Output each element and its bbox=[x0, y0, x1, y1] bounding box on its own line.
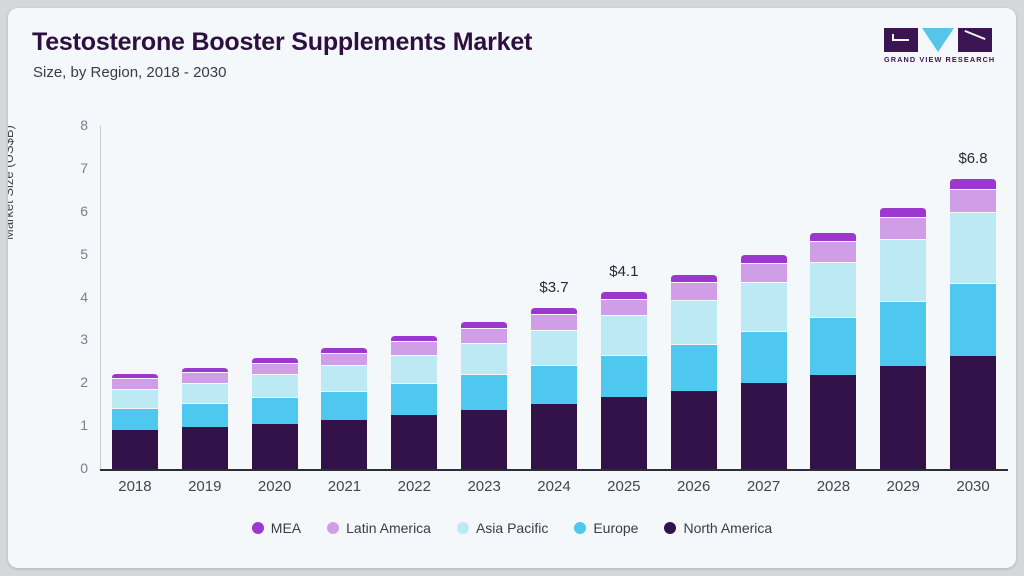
bar-segment-europe[interactable] bbox=[112, 408, 158, 430]
bar-segment-europe[interactable] bbox=[950, 283, 996, 356]
bar-2021[interactable] bbox=[321, 126, 367, 469]
data-label-2024: $3.7 bbox=[519, 279, 589, 296]
bar-2023[interactable] bbox=[461, 126, 507, 469]
bar-segment-mea[interactable] bbox=[461, 321, 507, 328]
x-axis-tick-label: 2029 bbox=[868, 478, 938, 495]
bar-segment-north-america[interactable] bbox=[321, 420, 367, 469]
legend-item-europe[interactable]: Europe bbox=[574, 520, 638, 536]
legend-label: MEA bbox=[271, 520, 301, 536]
bar-segment-asia-pacific[interactable] bbox=[741, 282, 787, 331]
bar-segment-mea[interactable] bbox=[531, 307, 577, 314]
bar-segment-north-america[interactable] bbox=[252, 424, 298, 469]
bar-segment-asia-pacific[interactable] bbox=[252, 374, 298, 397]
bar-segment-asia-pacific[interactable] bbox=[671, 300, 717, 344]
bar-segment-latin-america[interactable] bbox=[880, 217, 926, 238]
bar-segment-north-america[interactable] bbox=[461, 410, 507, 469]
bar-segment-latin-america[interactable] bbox=[321, 353, 367, 365]
bar-segment-asia-pacific[interactable] bbox=[601, 315, 647, 354]
y-axis-label: Market Size (US$B) bbox=[8, 125, 16, 240]
chart-legend: MEALatin AmericaAsia PacificEuropeNorth … bbox=[8, 520, 1016, 536]
bar-2027[interactable] bbox=[741, 126, 787, 469]
bar-segment-mea[interactable] bbox=[391, 335, 437, 341]
bar-2026[interactable] bbox=[671, 126, 717, 469]
bar-segment-asia-pacific[interactable] bbox=[321, 365, 367, 390]
bar-segment-europe[interactable] bbox=[252, 397, 298, 424]
bar-segment-north-america[interactable] bbox=[391, 415, 437, 469]
y-axis-tick-label: 5 bbox=[62, 246, 88, 262]
y-axis-tick-label: 3 bbox=[62, 331, 88, 347]
x-axis-tick-label: 2023 bbox=[449, 478, 519, 495]
legend-label: Europe bbox=[593, 520, 638, 536]
y-axis-tick-label: 8 bbox=[62, 117, 88, 133]
bar-segment-asia-pacific[interactable] bbox=[880, 239, 926, 301]
bar-segment-europe[interactable] bbox=[461, 374, 507, 410]
bar-segment-europe[interactable] bbox=[810, 317, 856, 375]
x-axis-tick-label: 2026 bbox=[659, 478, 729, 495]
bar-segment-latin-america[interactable] bbox=[391, 341, 437, 354]
x-axis-tick-label: 2028 bbox=[798, 478, 868, 495]
y-axis-tick-label: 0 bbox=[62, 460, 88, 476]
bar-2028[interactable] bbox=[810, 126, 856, 469]
x-axis-tick-label: 2019 bbox=[170, 478, 240, 495]
bar-2029[interactable] bbox=[880, 126, 926, 469]
bar-segment-north-america[interactable] bbox=[531, 404, 577, 469]
legend-swatch-icon bbox=[664, 522, 676, 534]
x-axis-tick-label: 2027 bbox=[729, 478, 799, 495]
bar-segment-europe[interactable] bbox=[601, 355, 647, 398]
y-axis-tick-label: 2 bbox=[62, 374, 88, 390]
bar-segment-asia-pacific[interactable] bbox=[112, 389, 158, 408]
bar-segment-north-america[interactable] bbox=[112, 430, 158, 469]
bar-segment-asia-pacific[interactable] bbox=[391, 355, 437, 383]
x-axis-tick-label: 2030 bbox=[938, 478, 1008, 495]
x-axis-tick-label: 2024 bbox=[519, 478, 589, 495]
y-axis-tick-label: 4 bbox=[62, 289, 88, 305]
bar-segment-asia-pacific[interactable] bbox=[461, 343, 507, 375]
bar-segment-asia-pacific[interactable] bbox=[182, 383, 228, 404]
bar-segment-north-america[interactable] bbox=[880, 366, 926, 469]
bar-segment-mea[interactable] bbox=[950, 178, 996, 189]
bar-2020[interactable] bbox=[252, 126, 298, 469]
bar-segment-north-america[interactable] bbox=[671, 391, 717, 469]
legend-swatch-icon bbox=[457, 522, 469, 534]
data-label-2025: $4.1 bbox=[589, 263, 659, 280]
x-axis-line bbox=[100, 469, 1008, 471]
legend-item-asia-pacific[interactable]: Asia Pacific bbox=[457, 520, 548, 536]
bar-2024[interactable] bbox=[531, 126, 577, 469]
bar-segment-mea[interactable] bbox=[810, 232, 856, 241]
bar-segment-north-america[interactable] bbox=[810, 375, 856, 469]
bar-segment-asia-pacific[interactable] bbox=[531, 330, 577, 365]
legend-swatch-icon bbox=[252, 522, 264, 534]
bar-segment-asia-pacific[interactable] bbox=[810, 262, 856, 317]
data-label-2030: $6.8 bbox=[938, 150, 1008, 167]
bar-segment-latin-america[interactable] bbox=[461, 328, 507, 343]
bar-2022[interactable] bbox=[391, 126, 437, 469]
legend-label: Asia Pacific bbox=[476, 520, 548, 536]
bar-segment-europe[interactable] bbox=[182, 403, 228, 427]
y-axis-tick-label: 1 bbox=[62, 417, 88, 433]
x-axis-tick-label: 2025 bbox=[589, 478, 659, 495]
bar-segment-europe[interactable] bbox=[741, 331, 787, 383]
legend-item-north-america[interactable]: North America bbox=[664, 520, 772, 536]
bar-segment-asia-pacific[interactable] bbox=[950, 212, 996, 282]
legend-swatch-icon bbox=[574, 522, 586, 534]
bar-2018[interactable] bbox=[112, 126, 158, 469]
bar-segment-latin-america[interactable] bbox=[182, 372, 228, 383]
bar-segment-mea[interactable] bbox=[321, 347, 367, 353]
bar-2030[interactable] bbox=[950, 126, 996, 469]
x-axis-tick-label: 2022 bbox=[379, 478, 449, 495]
bar-segment-north-america[interactable] bbox=[182, 427, 228, 469]
y-axis-tick-label: 6 bbox=[62, 203, 88, 219]
bar-segment-latin-america[interactable] bbox=[671, 282, 717, 300]
chart-card: Testosterone Booster Supplements Market … bbox=[8, 8, 1016, 568]
y-axis-tick-label: 7 bbox=[62, 160, 88, 176]
bar-segment-north-america[interactable] bbox=[601, 397, 647, 469]
legend-label: Latin America bbox=[346, 520, 431, 536]
bar-2025[interactable] bbox=[601, 126, 647, 469]
bar-segment-latin-america[interactable] bbox=[810, 241, 856, 261]
bar-segment-mea[interactable] bbox=[182, 367, 228, 372]
bar-segment-mea[interactable] bbox=[252, 357, 298, 363]
bar-segment-latin-america[interactable] bbox=[112, 378, 158, 389]
legend-swatch-icon bbox=[327, 522, 339, 534]
bar-segment-mea[interactable] bbox=[671, 274, 717, 282]
bar-2019[interactable] bbox=[182, 126, 228, 469]
bar-segment-europe[interactable] bbox=[671, 344, 717, 391]
bar-segment-latin-america[interactable] bbox=[252, 363, 298, 375]
bar-segment-north-america[interactable] bbox=[950, 356, 996, 469]
bar-segment-north-america[interactable] bbox=[741, 383, 787, 469]
bar-segment-europe[interactable] bbox=[880, 301, 926, 366]
bar-segment-latin-america[interactable] bbox=[531, 314, 577, 329]
x-axis-tick-label: 2021 bbox=[310, 478, 380, 495]
legend-label: North America bbox=[683, 520, 772, 536]
x-axis-tick-label: 2018 bbox=[100, 478, 170, 495]
y-axis-line bbox=[100, 126, 101, 469]
bar-segment-mea[interactable] bbox=[601, 291, 647, 299]
bar-segment-europe[interactable] bbox=[531, 365, 577, 404]
stacked-bar-chart: Market Size (US$B) 012345678 20182019202… bbox=[8, 8, 1016, 568]
bar-segment-latin-america[interactable] bbox=[741, 263, 787, 282]
bar-segment-mea[interactable] bbox=[741, 254, 787, 263]
legend-item-latin-america[interactable]: Latin America bbox=[327, 520, 431, 536]
legend-item-mea[interactable]: MEA bbox=[252, 520, 301, 536]
bar-segment-latin-america[interactable] bbox=[601, 299, 647, 315]
bar-segment-europe[interactable] bbox=[391, 383, 437, 415]
bar-segment-europe[interactable] bbox=[321, 391, 367, 420]
x-axis-tick-label: 2020 bbox=[240, 478, 310, 495]
bar-segment-latin-america[interactable] bbox=[950, 189, 996, 212]
bar-segment-mea[interactable] bbox=[880, 207, 926, 217]
bar-segment-mea[interactable] bbox=[112, 373, 158, 378]
